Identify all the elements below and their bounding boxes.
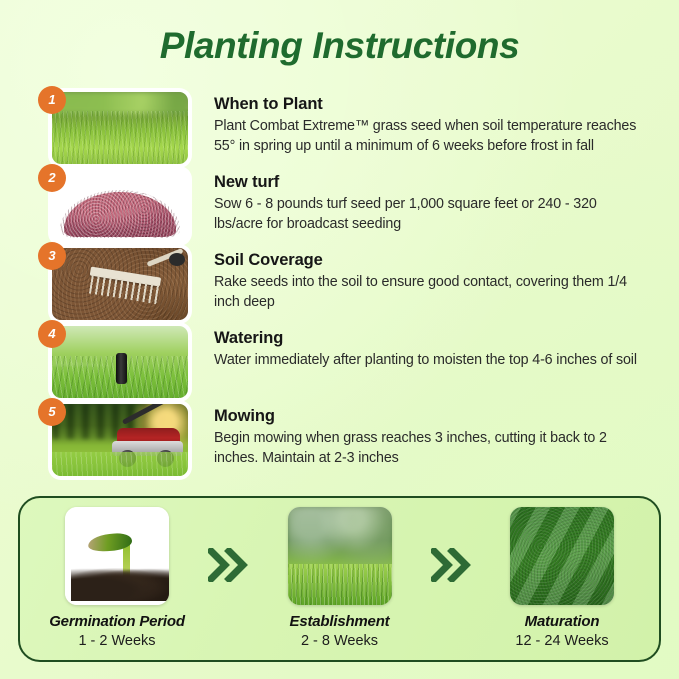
seedling-sprout-photo — [65, 507, 169, 605]
double-chevron-right-icon — [205, 548, 251, 582]
growth-timeline-panel: Germination Period 1 - 2 Weeks Establish… — [18, 496, 661, 662]
step-body: Begin mowing when grass reaches 3 inches… — [214, 429, 645, 468]
rake-knob-shape — [169, 253, 185, 266]
step-item: 2 New turf Sow 6 - 8 pounds turf seed pe… — [0, 170, 679, 242]
sprinkler-head-shape — [116, 353, 127, 383]
step-number-badge: 3 — [38, 242, 66, 270]
young-grass-photo — [288, 507, 392, 605]
lawn-grass-photo — [52, 92, 188, 164]
timeline-stage: Germination Period 1 - 2 Weeks — [42, 507, 192, 651]
step-body: Rake seeds into the soil to ensure good … — [214, 273, 645, 312]
bokeh-background-shape — [288, 507, 392, 568]
timeline-stage-image — [65, 507, 169, 605]
step-number-badge: 2 — [38, 164, 66, 192]
step-image-card — [52, 326, 188, 398]
foreground-grass-shape — [52, 452, 188, 476]
step-item: 1 When to Plant Plant Combat Extreme™ gr… — [0, 92, 679, 164]
step-number-badge: 4 — [38, 320, 66, 348]
grass-texture-shape — [510, 507, 614, 605]
page-title: Planting Instructions — [0, 24, 679, 68]
lawn-mower-photo — [52, 404, 188, 476]
step-heading: Mowing — [214, 406, 645, 427]
step-item: 4 Watering Water immediately after plant… — [0, 326, 679, 398]
step-text: When to Plant Plant Combat Extreme™ gras… — [188, 92, 679, 156]
step-body: Sow 6 - 8 pounds turf seed per 1,000 squ… — [214, 195, 645, 234]
step-image-card — [52, 92, 188, 164]
step-body: Plant Combat Extreme™ grass seed when so… — [214, 117, 645, 156]
timeline-stage-label: Maturation — [487, 612, 637, 631]
timeline-stage-image — [288, 507, 392, 605]
step-heading: When to Plant — [214, 94, 645, 115]
step-heading: Soil Coverage — [214, 250, 645, 271]
step-text: Watering Water immediately after plantin… — [188, 326, 671, 371]
step-media: 3 — [52, 248, 188, 320]
step-body: Water immediately after planting to mois… — [214, 351, 637, 371]
step-media: 5 — [52, 404, 188, 476]
planting-instructions-infographic: Planting Instructions 1 When to Plant Pl… — [0, 0, 679, 679]
timeline-stage-label: Establishment — [265, 612, 415, 631]
step-item: 3 Soil Coverage Rake seeds into the soil… — [0, 248, 679, 320]
step-image-card — [52, 404, 188, 476]
coated-grass-seed-pile-photo — [52, 170, 188, 242]
timeline-stage-label: Germination Period — [42, 612, 192, 631]
sprinkler-watering-lawn-photo — [52, 326, 188, 398]
step-text: New turf Sow 6 - 8 pounds turf seed per … — [188, 170, 679, 234]
step-media: 2 — [52, 170, 188, 242]
step-heading: New turf — [214, 172, 645, 193]
step-image-card — [52, 170, 188, 242]
turf-shape — [288, 564, 392, 605]
step-number-badge: 1 — [38, 86, 66, 114]
step-text: Soil Coverage Rake seeds into the soil t… — [188, 248, 679, 312]
timeline-stage-image — [510, 507, 614, 605]
step-media: 4 — [52, 326, 188, 398]
step-text: Mowing Begin mowing when grass reaches 3… — [188, 404, 679, 468]
soil-clods-shape — [71, 568, 169, 601]
step-item: 5 Mowing Begin mowing when grass reaches… — [0, 404, 679, 476]
timeline-stage: Maturation 12 - 24 Weeks — [487, 507, 637, 651]
timeline-stage-duration: 2 - 8 Weeks — [265, 632, 415, 651]
timeline-stage-duration: 12 - 24 Weeks — [487, 632, 637, 651]
steps-list: 1 When to Plant Plant Combat Extreme™ gr… — [0, 92, 679, 482]
step-heading: Watering — [214, 328, 637, 349]
step-number-badge: 5 — [38, 398, 66, 426]
timeline-stage: Establishment 2 - 8 Weeks — [265, 507, 415, 651]
timeline-stage-duration: 1 - 2 Weeks — [42, 632, 192, 651]
rake-in-soil-photo — [52, 248, 188, 320]
step-image-card — [52, 248, 188, 320]
double-chevron-right-icon — [428, 548, 474, 582]
step-media: 1 — [52, 92, 188, 164]
mowed-striped-lawn-photo — [510, 507, 614, 605]
